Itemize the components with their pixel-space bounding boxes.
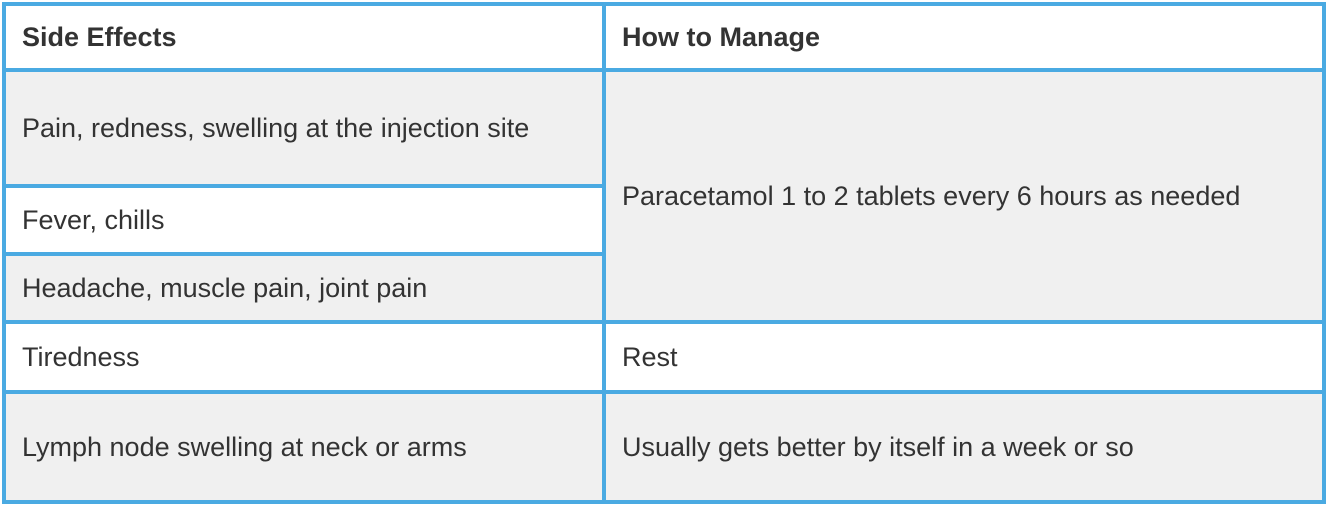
- column-header-how-to-manage: How to Manage: [604, 4, 1324, 70]
- table-header: Side Effects How to Manage: [4, 4, 1324, 70]
- cell-side-effect: Pain, redness, swelling at the injection…: [4, 70, 604, 186]
- cell-side-effect: Fever, chills: [4, 186, 604, 254]
- table-row: Tiredness Rest: [4, 322, 1324, 392]
- cell-management: Rest: [604, 322, 1324, 392]
- table-row: Lymph node swelling at neck or arms Usua…: [4, 392, 1324, 502]
- cell-side-effect: Lymph node swelling at neck or arms: [4, 392, 604, 502]
- cell-management-merged: Paracetamol 1 to 2 tablets every 6 hours…: [604, 70, 1324, 322]
- table-body: Pain, redness, swelling at the injection…: [4, 70, 1324, 502]
- cell-side-effect: Tiredness: [4, 322, 604, 392]
- cell-management: Usually gets better by itself in a week …: [604, 392, 1324, 502]
- cell-side-effect: Headache, muscle pain, joint pain: [4, 254, 604, 322]
- column-header-side-effects: Side Effects: [4, 4, 604, 70]
- table-header-row: Side Effects How to Manage: [4, 4, 1324, 70]
- side-effects-table-container: Side Effects How to Manage Pain, redness…: [0, 0, 1330, 516]
- table-row: Pain, redness, swelling at the injection…: [4, 70, 1324, 186]
- side-effects-table: Side Effects How to Manage Pain, redness…: [2, 2, 1326, 504]
